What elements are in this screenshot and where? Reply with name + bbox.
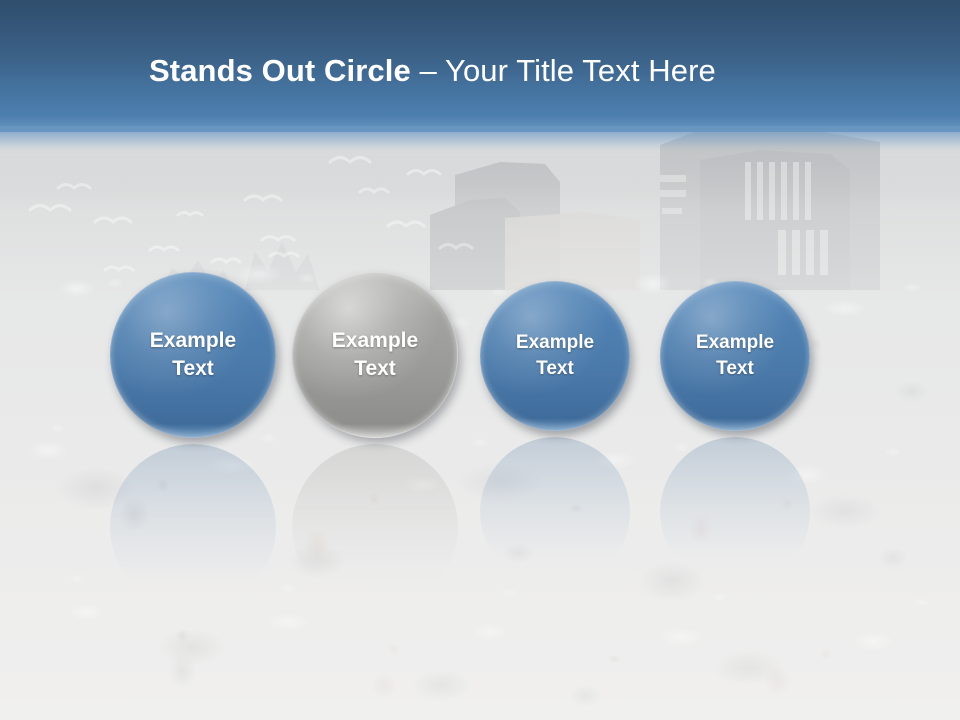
circle-4-label-line1: Example [696,330,774,356]
circle-1[interactable]: ExampleText [110,272,276,438]
circle-4-reflection [660,437,810,587]
circle-4-label: ExampleText [696,330,774,382]
circle-2-reflection [292,444,458,610]
page-title-separator: – [411,53,445,88]
circle-2-label: ExampleText [332,327,418,383]
circle-3-label-line2: Text [516,356,594,382]
circle-4[interactable]: ExampleText [660,281,810,431]
page-title: Stands Out Circle – Your Title Text Here [149,52,716,90]
circle-4-label-line2: Text [696,356,774,382]
circle-3[interactable]: ExampleText [480,281,630,431]
circle-1-label-line1: Example [150,327,236,355]
slide-canvas: Stands Out Circle – Your Title Text Here… [0,0,960,720]
page-title-bold: Stands Out Circle [149,53,411,88]
circle-1-label-line2: Text [150,355,236,383]
title-bar: Stands Out Circle – Your Title Text Here [0,0,960,132]
circle-3-label-line1: Example [516,330,594,356]
circle-2-label-line1: Example [332,327,418,355]
circle-3-label: ExampleText [516,330,594,382]
page-title-regular: Your Title Text Here [445,53,716,88]
circle-1-reflection [110,444,276,610]
circle-1-label: ExampleText [150,327,236,383]
circle-2[interactable]: ExampleText [292,272,458,438]
circle-2-label-line2: Text [332,355,418,383]
circle-3-reflection [480,437,630,587]
